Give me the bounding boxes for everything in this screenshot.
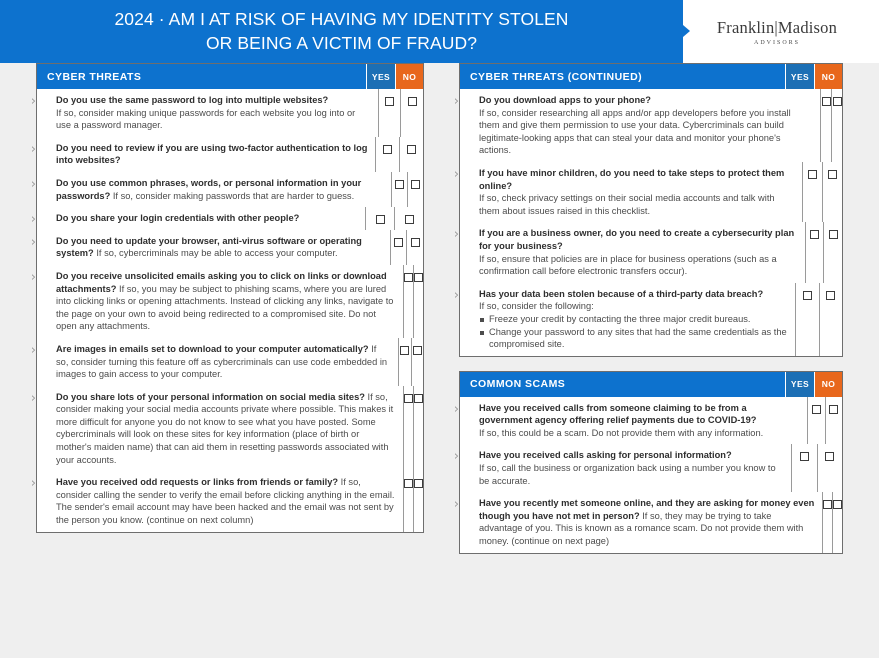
- yes-checkbox[interactable]: [812, 405, 821, 414]
- question-lead-line: Have you received calls asking for perso…: [479, 449, 784, 462]
- checklist-row: ›Has your data been stolen because of a …: [460, 283, 842, 356]
- no-checkbox-cell[interactable]: [395, 207, 423, 230]
- yes-checkbox[interactable]: [376, 215, 385, 224]
- chevron-right-icon: ›: [31, 178, 41, 191]
- no-checkbox[interactable]: [826, 291, 835, 300]
- no-checkbox-cell[interactable]: [823, 162, 842, 222]
- no-checkbox-cell[interactable]: [401, 89, 423, 137]
- checklist-row: ›Have you received odd requests or links…: [37, 471, 423, 531]
- question-cell: ›Are images in emails set to download to…: [37, 338, 399, 386]
- checklist-row: ›Have you received calls asking for pers…: [460, 444, 842, 492]
- no-checkbox-cell[interactable]: [824, 222, 842, 282]
- question-text: Do you need to review if you are using t…: [56, 142, 368, 167]
- question-cell: ›If you are a business owner, do you nee…: [460, 222, 806, 282]
- question-lead-line: If you have minor children, do you need …: [479, 167, 795, 192]
- question-text: Have you received odd requests or links …: [56, 476, 396, 526]
- left-column: CYBER THREATSYESNO›Do you use the same p…: [36, 63, 424, 547]
- no-checkbox[interactable]: [414, 479, 423, 488]
- block-rows: ›Have you received calls from someone cl…: [460, 397, 842, 553]
- no-checkbox[interactable]: [829, 405, 838, 414]
- chevron-right-icon: ›: [31, 236, 41, 249]
- page-title-line-1: 2024 · AM I AT RISK OF HAVING MY IDENTIT…: [0, 7, 683, 31]
- yes-checkbox-cell[interactable]: [821, 89, 832, 162]
- question-lead-line: Do you use the same password to log into…: [56, 94, 371, 107]
- question-cell: ›Have you received odd requests or links…: [37, 471, 404, 531]
- right-column: CYBER THREATS (CONTINUED)YESNO›Do you do…: [459, 63, 843, 568]
- yes-checkbox-cell[interactable]: [391, 230, 408, 265]
- question-lead: If you have minor children, do you need …: [479, 168, 784, 191]
- no-checkbox[interactable]: [405, 215, 414, 224]
- no-checkbox-cell[interactable]: [832, 89, 842, 162]
- no-checkbox[interactable]: [833, 97, 842, 106]
- question-lead: Are images in emails set to download to …: [56, 344, 369, 354]
- chevron-right-icon: ›: [31, 477, 41, 490]
- no-checkbox-cell[interactable]: [818, 444, 842, 492]
- no-checkbox-cell[interactable]: [414, 265, 423, 338]
- no-checkbox-cell[interactable]: [833, 492, 842, 552]
- block-header: CYBER THREATSYESNO: [37, 64, 423, 89]
- question-body: If so, check privacy settings on their s…: [479, 193, 775, 216]
- question-lead: If you are a business owner, do you need…: [479, 228, 794, 251]
- yes-checkbox[interactable]: [803, 291, 812, 300]
- question-cell: ›If you have minor children, do you need…: [460, 162, 803, 222]
- question-lead: Have you received calls from someone cla…: [479, 403, 756, 426]
- question-cell: ›Have you recently met someone online, a…: [460, 492, 823, 552]
- checklist-row: ›If you have minor children, do you need…: [460, 162, 842, 222]
- no-checkbox-cell[interactable]: [407, 230, 423, 265]
- no-checkbox[interactable]: [829, 230, 838, 239]
- chevron-right-icon: ›: [454, 228, 464, 241]
- question-text: Are images in emails set to download to …: [56, 343, 391, 381]
- question-cell: ›Do you receive unsolicited emails askin…: [37, 265, 404, 338]
- chevron-right-icon: ›: [454, 168, 464, 181]
- yes-checkbox-cell[interactable]: [366, 207, 395, 230]
- question-cell: ›Do you share lots of your personal info…: [37, 386, 404, 472]
- question-lead-line: Has your data been stolen because of a t…: [479, 288, 788, 301]
- no-checkbox-cell[interactable]: [414, 386, 423, 472]
- question-cell: ›Do you use the same password to log int…: [37, 89, 379, 137]
- question-lead: Have you received calls asking for perso…: [479, 450, 732, 460]
- checklist-row: ›Do you need to review if you are using …: [37, 137, 423, 172]
- checklist-row: ›If you are a business owner, do you nee…: [460, 222, 842, 282]
- question-cell: ›Do you need to review if you are using …: [37, 137, 376, 172]
- yes-checkbox[interactable]: [822, 97, 831, 106]
- question-text: Have you received calls asking for perso…: [479, 449, 784, 487]
- yes-checkbox[interactable]: [404, 394, 413, 403]
- question-lead-line: Do you download apps to your phone?: [479, 94, 813, 107]
- question-text: Have you recently met someone online, an…: [479, 497, 815, 547]
- question-cell: ›Have you received calls asking for pers…: [460, 444, 792, 492]
- yes-column-header: YES: [785, 372, 814, 397]
- checklist-row: ›Do you use the same password to log int…: [37, 89, 423, 137]
- question-lead: Do you need to review if you are using t…: [56, 143, 367, 166]
- question-body: If so, consider researching all apps and…: [479, 108, 791, 156]
- checklist-page: CYBER THREATSYESNO›Do you use the same p…: [0, 63, 879, 658]
- block-header: COMMON SCAMSYESNO: [460, 372, 842, 397]
- question-lead-line: If you are a business owner, do you need…: [479, 227, 798, 252]
- page-title-line-2: OR BEING A VICTIM OF FRAUD?: [0, 31, 683, 55]
- no-checkbox[interactable]: [833, 500, 842, 509]
- question-lead-line: Do you need to review if you are using t…: [56, 142, 368, 167]
- checklist-row: ›Do you share your login credentials wit…: [37, 207, 423, 230]
- question-body: If so, this could be a scam. Do not prov…: [479, 428, 763, 438]
- no-column-header: NO: [814, 372, 842, 397]
- question-text: Do you share your login credentials with…: [56, 212, 358, 225]
- block-rows: ›Do you download apps to your phone?If s…: [460, 89, 842, 356]
- question-text: Have you received calls from someone cla…: [479, 402, 800, 440]
- no-column-header: NO: [395, 64, 423, 89]
- question-body: If so, cybercriminals may be able to acc…: [94, 248, 338, 258]
- brand-logo: Franklin|Madison ADVISORS: [697, 18, 857, 46]
- yes-checkbox-cell[interactable]: [404, 386, 414, 472]
- chevron-right-icon: ›: [454, 498, 464, 511]
- chevron-right-icon: ›: [31, 271, 41, 284]
- checklist-block-cyber-threats: CYBER THREATSYESNO›Do you use the same p…: [36, 63, 424, 533]
- question-body: If so, call the business or organization…: [479, 463, 776, 486]
- no-checkbox[interactable]: [411, 180, 420, 189]
- yes-checkbox[interactable]: [800, 452, 809, 461]
- no-column-header: NO: [814, 64, 842, 89]
- question-lead: Have you received odd requests or links …: [56, 477, 338, 487]
- brand-logo-tagline: ADVISORS: [697, 40, 857, 46]
- chevron-right-icon: ›: [31, 392, 41, 405]
- question-text: Do you share lots of your personal infor…: [56, 391, 396, 467]
- yes-column-header: YES: [366, 64, 395, 89]
- no-checkbox[interactable]: [413, 346, 422, 355]
- block-rows: ›Do you use the same password to log int…: [37, 89, 423, 532]
- chevron-right-icon: ›: [454, 403, 464, 416]
- yes-checkbox-cell[interactable]: [808, 397, 825, 445]
- yes-checkbox-cell[interactable]: [796, 283, 819, 356]
- no-checkbox[interactable]: [414, 273, 423, 282]
- yes-checkbox[interactable]: [383, 145, 392, 154]
- block-title: CYBER THREATS (CONTINUED): [460, 64, 785, 89]
- question-text: If you have minor children, do you need …: [479, 167, 795, 217]
- question-lead: Has your data been stolen because of a t…: [479, 289, 763, 299]
- yes-checkbox-cell[interactable]: [399, 338, 411, 386]
- chevron-right-icon: ›: [31, 213, 41, 226]
- question-cell: ›Do you use common phrases, words, or pe…: [37, 172, 392, 207]
- question-body: If so, consider making unique passwords …: [56, 108, 355, 131]
- chevron-right-icon: ›: [454, 95, 464, 108]
- question-cell: ›Do you share your login credentials wit…: [37, 207, 366, 230]
- no-checkbox[interactable]: [407, 145, 416, 154]
- no-checkbox-cell[interactable]: [408, 172, 423, 207]
- question-text: Has your data been stolen because of a t…: [479, 288, 788, 313]
- yes-checkbox[interactable]: [404, 273, 413, 282]
- no-checkbox-cell[interactable]: [412, 338, 423, 386]
- no-checkbox-cell[interactable]: [826, 397, 842, 445]
- block-title: CYBER THREATS: [37, 64, 366, 89]
- chevron-right-icon: ›: [31, 344, 41, 357]
- yes-checkbox-cell[interactable]: [376, 137, 400, 172]
- question-body: If so, consider making passwords that ar…: [110, 191, 354, 201]
- yes-checkbox-cell[interactable]: [392, 172, 408, 207]
- question-cell: ›Do you download apps to your phone?If s…: [460, 89, 821, 162]
- yes-checkbox[interactable]: [810, 230, 819, 239]
- no-checkbox-cell[interactable]: [400, 137, 423, 172]
- page-header: 2024 · AM I AT RISK OF HAVING MY IDENTIT…: [0, 0, 879, 63]
- question-text: If you are a business owner, do you need…: [479, 227, 798, 277]
- checklist-block-common-scams: COMMON SCAMSYESNO›Have you received call…: [459, 371, 843, 554]
- yes-checkbox-cell[interactable]: [404, 471, 414, 531]
- yes-checkbox[interactable]: [400, 346, 409, 355]
- no-checkbox[interactable]: [408, 97, 417, 106]
- question-cell: ›Do you need to update your browser, ant…: [37, 230, 391, 265]
- checklist-row: ›Do you share lots of your personal info…: [37, 386, 423, 472]
- question-text: Do you need to update your browser, anti…: [56, 235, 383, 260]
- page-title: 2024 · AM I AT RISK OF HAVING MY IDENTIT…: [0, 7, 683, 55]
- yes-checkbox[interactable]: [404, 479, 413, 488]
- no-checkbox[interactable]: [825, 452, 834, 461]
- question-bullet-list: Freeze your credit by contacting the thr…: [479, 313, 788, 351]
- no-checkbox[interactable]: [411, 238, 420, 247]
- question-body: If so, consider the following:: [479, 301, 594, 311]
- yes-column-header: YES: [785, 64, 814, 89]
- question-text: Do you download apps to your phone?If so…: [479, 94, 813, 157]
- checklist-row: ›Have you received calls from someone cl…: [460, 397, 842, 445]
- checklist-row: ›Do you receive unsolicited emails askin…: [37, 265, 423, 338]
- yes-checkbox-cell[interactable]: [379, 89, 402, 137]
- checklist-row: ›Do you download apps to your phone?If s…: [460, 89, 842, 162]
- header-notch-arrow: [683, 25, 690, 37]
- yes-checkbox[interactable]: [808, 170, 817, 179]
- yes-checkbox[interactable]: [823, 500, 832, 509]
- brand-logo-name: Franklin|Madison: [697, 18, 857, 38]
- yes-checkbox-cell[interactable]: [806, 222, 825, 282]
- no-checkbox-cell[interactable]: [820, 283, 842, 356]
- question-text: Do you receive unsolicited emails asking…: [56, 270, 396, 333]
- checklist-block-cyber-threats-continued: CYBER THREATS (CONTINUED)YESNO›Do you do…: [459, 63, 843, 357]
- yes-checkbox-cell[interactable]: [792, 444, 817, 492]
- chevron-right-icon: ›: [31, 95, 41, 108]
- question-lead: Do you share your login credentials with…: [56, 213, 299, 223]
- checklist-row: ›Do you use common phrases, words, or pe…: [37, 172, 423, 207]
- block-title: COMMON SCAMS: [460, 372, 785, 397]
- question-lead: Do you download apps to your phone?: [479, 95, 651, 105]
- chevron-right-icon: ›: [454, 289, 464, 302]
- question-lead-line: Do you share your login credentials with…: [56, 212, 358, 225]
- question-cell: ›Has your data been stolen because of a …: [460, 283, 796, 356]
- no-checkbox[interactable]: [414, 394, 423, 403]
- yes-checkbox[interactable]: [385, 97, 394, 106]
- yes-checkbox-cell[interactable]: [803, 162, 823, 222]
- no-checkbox-cell[interactable]: [414, 471, 423, 531]
- no-checkbox[interactable]: [828, 170, 837, 179]
- question-bullet-item: Change your password to any sites that h…: [479, 326, 788, 351]
- yes-checkbox-cell[interactable]: [404, 265, 414, 338]
- question-body: If so, ensure that policies are in place…: [479, 254, 777, 277]
- chevron-right-icon: ›: [31, 143, 41, 156]
- block-header: CYBER THREATS (CONTINUED)YESNO: [460, 64, 842, 89]
- question-text: Do you use common phrases, words, or per…: [56, 177, 384, 202]
- checklist-row: ›Do you need to update your browser, ant…: [37, 230, 423, 265]
- question-cell: ›Have you received calls from someone cl…: [460, 397, 808, 445]
- yes-checkbox-cell[interactable]: [823, 492, 833, 552]
- yes-checkbox[interactable]: [395, 180, 404, 189]
- question-bullet-item: Freeze your credit by contacting the thr…: [479, 313, 788, 326]
- question-text: Do you use the same password to log into…: [56, 94, 371, 132]
- checklist-row: ›Are images in emails set to download to…: [37, 338, 423, 386]
- question-lead: Do you share lots of your personal infor…: [56, 392, 365, 402]
- question-lead-line: Have you received calls from someone cla…: [479, 402, 800, 427]
- chevron-right-icon: ›: [454, 450, 464, 463]
- question-body: If so, consider making your social media…: [56, 392, 393, 465]
- question-lead: Do you use the same password to log into…: [56, 95, 328, 105]
- checklist-row: ›Have you recently met someone online, a…: [460, 492, 842, 552]
- yes-checkbox[interactable]: [394, 238, 403, 247]
